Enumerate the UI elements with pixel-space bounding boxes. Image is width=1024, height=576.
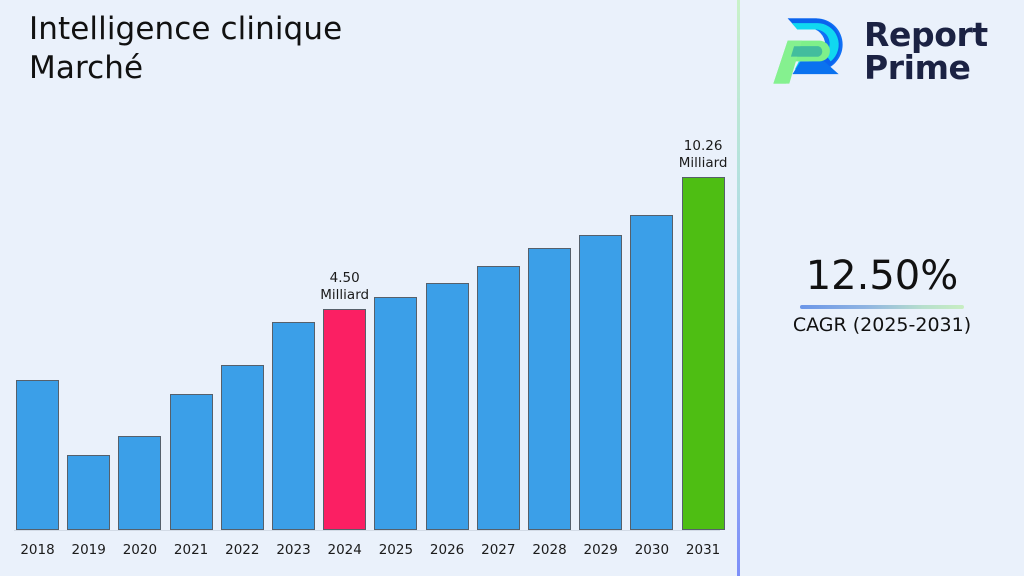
x-axis-label-2025: 2025 [379, 542, 413, 558]
bar-group: 4.50 Milliard2024 [323, 0, 366, 576]
x-axis-label-2020: 2020 [123, 542, 157, 558]
bar-group: 2027 [477, 0, 520, 576]
x-axis-label-2021: 2021 [174, 542, 208, 558]
bar-2024[interactable] [323, 309, 366, 530]
bar-group: 2030 [630, 0, 673, 576]
bar-2019[interactable] [67, 455, 110, 530]
bar-2020[interactable] [118, 436, 161, 530]
chart-panel: Intelligence clinique Marché 20182019202… [0, 0, 738, 576]
x-axis-label-2022: 2022 [225, 542, 259, 558]
x-axis-label-2027: 2027 [481, 542, 515, 558]
bar-chart-plot: 2018201920202021202220234.50 Milliard202… [0, 0, 738, 576]
infographic-root: Intelligence clinique Marché 20182019202… [0, 0, 1024, 576]
bar-2018[interactable] [16, 380, 59, 530]
brand-panel: Report Prime 12.50% CAGR (2025-2031) [740, 0, 1024, 576]
bar-group: 2026 [426, 0, 469, 576]
bar-2031[interactable] [682, 177, 725, 530]
bar-2022[interactable] [221, 365, 264, 530]
cagr-block: 12.50% CAGR (2025-2031) [740, 252, 1024, 338]
x-axis-label-2030: 2030 [635, 542, 669, 558]
bar-group: 2023 [272, 0, 315, 576]
cagr-value: 12.50% [740, 252, 1024, 300]
bar-group: 2021 [170, 0, 213, 576]
bar-2028[interactable] [528, 248, 571, 530]
report-prime-logo-mark [770, 12, 850, 90]
bar-2029[interactable] [579, 235, 622, 530]
x-axis-label-2031: 2031 [686, 542, 720, 558]
x-axis-label-2029: 2029 [584, 542, 618, 558]
bar-group: 2025 [374, 0, 417, 576]
bar-2027[interactable] [477, 266, 520, 530]
bar-group: 2020 [118, 0, 161, 576]
x-axis-label-2019: 2019 [72, 542, 106, 558]
x-axis-label-2024: 2024 [328, 542, 362, 558]
bar-group: 2028 [528, 0, 571, 576]
logo-wordmark: Report Prime [864, 18, 988, 84]
bar-value-label-2024: 4.50 Milliard [320, 270, 369, 304]
bar-group: 2029 [579, 0, 622, 576]
x-axis-label-2023: 2023 [276, 542, 310, 558]
cagr-divider-line [800, 305, 964, 309]
cagr-caption: CAGR (2025-2031) [740, 313, 1024, 338]
x-axis-label-2026: 2026 [430, 542, 464, 558]
bar-value-label-2031: 10.26 Milliard [679, 138, 728, 172]
bar-2025[interactable] [374, 297, 417, 530]
bar-2026[interactable] [426, 283, 469, 530]
bar-2021[interactable] [170, 394, 213, 530]
logo: Report Prime [770, 12, 988, 90]
bar-group: 10.26 Milliard2031 [682, 0, 725, 576]
bar-group: 2018 [16, 0, 59, 576]
x-axis-label-2018: 2018 [20, 542, 54, 558]
bar-2023[interactable] [272, 322, 315, 530]
bar-2030[interactable] [630, 215, 673, 530]
bar-group: 2019 [67, 0, 110, 576]
x-axis-label-2028: 2028 [532, 542, 566, 558]
bar-group: 2022 [221, 0, 264, 576]
